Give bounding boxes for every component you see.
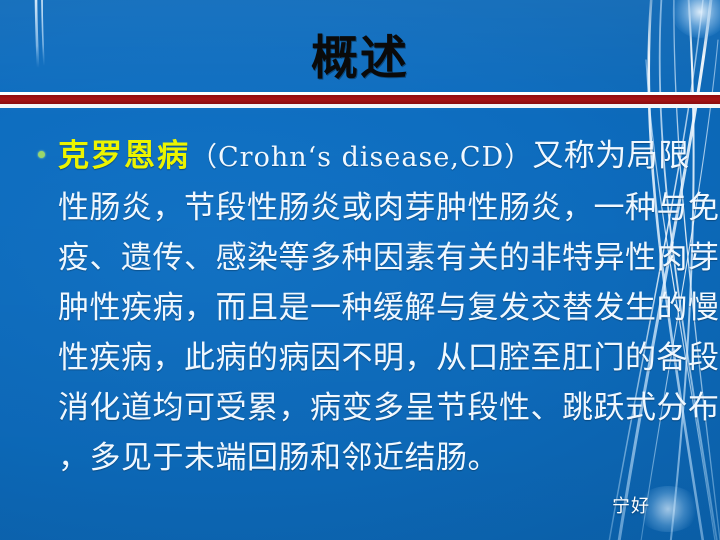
slide-title: 概述	[0, 30, 720, 88]
body-line-5: 性疾病，此病的病因不明，从口腔至肛门的各段	[58, 333, 688, 383]
watermark-label: 宁好	[612, 492, 650, 518]
bullet-paragraph: 克罗恩病（Crohn‘s disease,CD）又称为局限 性肠炎，节段性肠炎或…	[26, 131, 688, 483]
body-line-6: 消化道均可受累，病变多呈节段性、跳跃式分布	[58, 383, 688, 433]
divider-red-line	[0, 95, 720, 104]
body-line-4: 肿性疾病，而且是一种缓解与复发交替发生的慢	[58, 283, 688, 333]
slide-body: 克罗恩病（Crohn‘s disease,CD）又称为局限 性肠炎，节段性肠炎或…	[26, 131, 688, 483]
body-line-2: 性肠炎，节段性肠炎或肉芽肿性肠炎，一种与免	[58, 183, 688, 233]
divider-white-line-bottom	[0, 104, 720, 108]
body-line-7: ，多见于末端回肠和邻近结肠。	[58, 433, 688, 483]
body-line-1: 克罗恩病（Crohn‘s disease,CD）又称为局限	[58, 131, 688, 183]
body-line-1-tail: 又称为局限	[532, 138, 690, 174]
body-line-1-latin: （Crohn‘s disease,CD）	[190, 142, 532, 173]
presentation-slide: 概述 克罗恩病（Crohn‘s disease,CD）又称为局限 性肠炎，节段性…	[0, 0, 720, 540]
title-divider-bar	[0, 92, 720, 109]
body-line-1-highlight: 克罗恩病	[58, 138, 190, 174]
body-line-3: 疫、遗传、感染等多种因素有关的非特异性肉芽	[58, 233, 688, 283]
bullet-point-icon	[38, 151, 45, 158]
